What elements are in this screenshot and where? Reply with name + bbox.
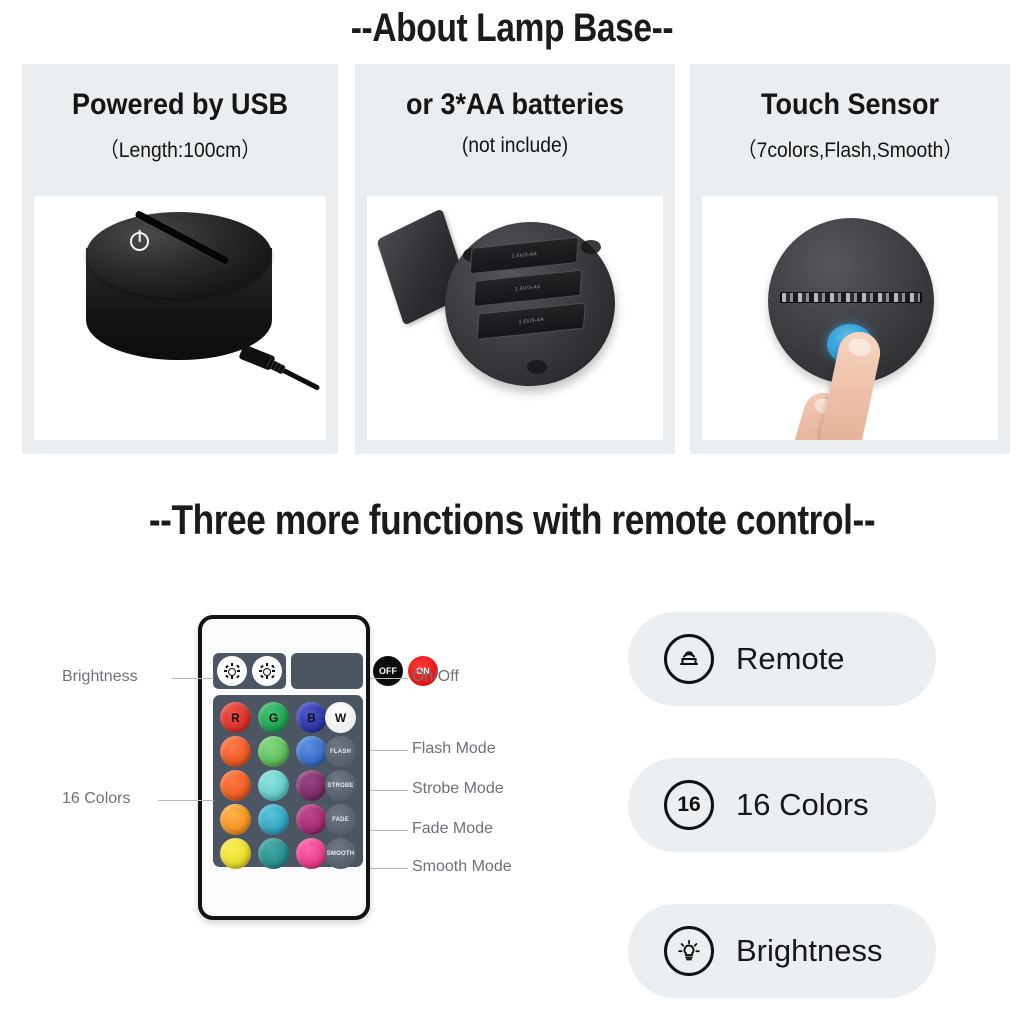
led-diodes: [782, 293, 920, 302]
callout-16-colors: 16 Colors: [62, 790, 130, 808]
leader-line: [370, 830, 408, 831]
bulb-icon: [664, 926, 714, 976]
power-pad: OFF ON: [291, 653, 363, 689]
section-heading-functions: --Three more functions with remote contr…: [82, 496, 942, 544]
color-button[interactable]: [220, 736, 251, 767]
panel-title: or 3*AA batteries: [371, 88, 659, 122]
panel-subtitle: （7colors,Flash,Smooth）: [703, 134, 997, 164]
feature-pill-remote[interactable]: Remote: [628, 612, 936, 706]
usb-cord-grip: [264, 357, 286, 374]
remote-control: OFF ON R G B W FLASH STROBE FADE: [198, 615, 370, 920]
sixteen-badge-text: 16: [677, 793, 700, 817]
feature-pill-brightness[interactable]: Brightness: [628, 904, 936, 998]
leader-line: [158, 800, 214, 801]
panel-title: Touch Sensor: [706, 88, 994, 122]
sun-dim-icon: [224, 663, 240, 679]
remote-top-row: OFF ON: [213, 653, 363, 689]
leader-line: [370, 750, 408, 751]
feature-pill-16-colors[interactable]: 16 16 Colors: [628, 758, 936, 852]
sixteen-circle-icon: 16: [664, 780, 714, 830]
mode-button-strobe[interactable]: STROBE: [325, 770, 356, 801]
leader-line: [370, 868, 408, 869]
color-button-red[interactable]: R: [220, 702, 251, 733]
panel-aa-batteries: or 3*AA batteries (not include) 1.5V/3-A…: [355, 64, 675, 454]
battery-base-illustration: 1.5V/3-AA 1.5V/3-AA 1.5V/3-AA: [367, 196, 663, 440]
mode-button-smooth[interactable]: SMOOTH: [325, 838, 356, 869]
remote-signal-icon: [664, 634, 714, 684]
remote-color-grid: R G B W FLASH STROBE FADE SMOOTH: [213, 695, 363, 867]
panel-subtitle: (not include): [368, 134, 662, 158]
color-button[interactable]: [296, 838, 327, 869]
color-button[interactable]: [220, 838, 251, 869]
callout-strobe-mode: Strobe Mode: [412, 780, 504, 798]
touch-sensor-illustration: [702, 196, 998, 440]
color-button[interactable]: [258, 736, 289, 767]
led-strip: [780, 292, 922, 303]
color-button-green[interactable]: G: [258, 702, 289, 733]
color-button[interactable]: [220, 804, 251, 835]
panel-subtitle: （Length:100cm）: [35, 134, 326, 164]
color-button[interactable]: [296, 770, 327, 801]
power-symbol-icon: [130, 232, 149, 251]
mode-button-flash[interactable]: FLASH: [325, 736, 356, 767]
lamp-base-usb-photo: [34, 196, 326, 440]
battery-slot: 1.5V/3-AA: [473, 269, 582, 307]
callout-brightness: Brightness: [62, 668, 138, 686]
color-button[interactable]: [258, 804, 289, 835]
section-heading-about: --About Lamp Base--: [82, 6, 942, 51]
battery-bay: 1.5V/3-AA 1.5V/3-AA 1.5V/3-AA: [469, 236, 593, 363]
brightness-pad: [213, 653, 286, 689]
leader-line: [172, 678, 214, 679]
color-button[interactable]: [258, 770, 289, 801]
color-button-blue[interactable]: B: [296, 702, 327, 733]
brightness-down-button[interactable]: [217, 656, 247, 686]
usb-cable: [240, 346, 324, 392]
mode-button-fade[interactable]: FADE: [325, 804, 356, 835]
color-button[interactable]: [220, 770, 251, 801]
callout-flash-mode: Flash Mode: [412, 740, 496, 758]
brightness-up-button[interactable]: [252, 656, 282, 686]
power-off-button[interactable]: OFF: [373, 656, 403, 686]
infographic-page: --About Lamp Base-- Powered by USB （Leng…: [0, 0, 1024, 1024]
callout-on-off: On/Off: [412, 668, 459, 686]
feature-label: 16 Colors: [736, 787, 869, 823]
panel-title: Powered by USB: [38, 88, 322, 122]
feature-label: Brightness: [736, 933, 882, 969]
panel-touch-sensor: Touch Sensor （7colors,Flash,Smooth）: [690, 64, 1010, 454]
feature-label: Remote: [736, 641, 845, 677]
rubber-foot: [581, 240, 601, 254]
panel-powered-by-usb: Powered by USB （Length:100cm）: [22, 64, 338, 454]
battery-slot: 1.5V/3-AA: [477, 302, 586, 340]
color-button[interactable]: [258, 838, 289, 869]
color-button-white[interactable]: W: [325, 702, 356, 733]
callout-smooth-mode: Smooth Mode: [412, 858, 512, 876]
lamp-base-illustration: [34, 196, 326, 440]
callout-fade-mode: Fade Mode: [412, 820, 493, 838]
leader-line: [370, 678, 408, 679]
lamp-top-surface: [86, 212, 272, 298]
battery-compartment-photo: 1.5V/3-AA 1.5V/3-AA 1.5V/3-AA: [367, 196, 663, 440]
sun-bright-icon: [259, 663, 275, 679]
leader-line: [370, 790, 408, 791]
rubber-foot: [527, 360, 547, 374]
touch-sensor-photo: [702, 196, 998, 440]
color-button[interactable]: [296, 736, 327, 767]
color-button[interactable]: [296, 804, 327, 835]
